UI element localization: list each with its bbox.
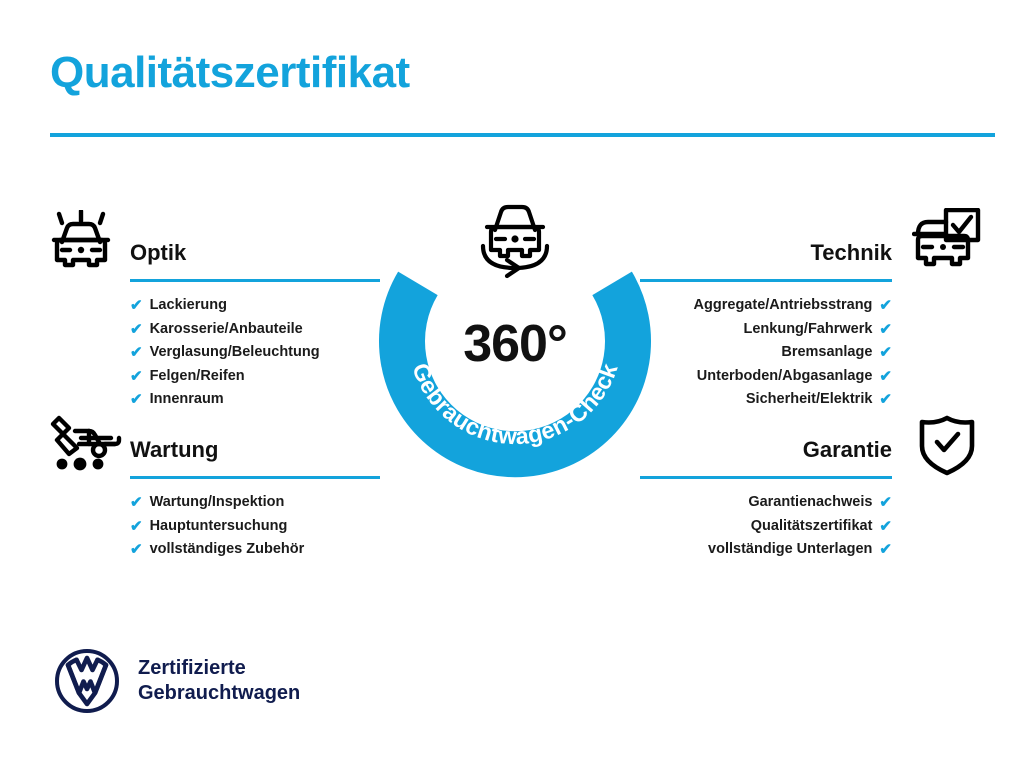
section-garantie: Garantie Garantienachweis✔ Qualitätszert…	[640, 435, 892, 562]
section-technik-title: Technik	[640, 238, 892, 268]
list-item: Bremsanlage✔	[640, 341, 892, 365]
car-rotate-360-icon	[483, 207, 547, 276]
shield-check-icon	[918, 414, 976, 481]
section-garantie-list: Garantienachweis✔ Qualitätszertifikat✔ v…	[640, 491, 892, 562]
section-optik-title: Optik	[130, 238, 380, 268]
vw-wordmark: Zertifizierte Gebrauchtwagen	[138, 656, 300, 706]
section-technik: Technik Aggregate/Antriebsstrang✔ Lenkun…	[640, 238, 892, 412]
pencil-car-service-icon	[45, 414, 123, 479]
check-icon: ✔	[879, 491, 892, 515]
section-optik: Optik ✔Lackierung ✔Karosserie/Anbauteile…	[130, 238, 380, 412]
list-item-label: Bremsanlage	[781, 341, 872, 365]
list-item: ✔Karosserie/Anbauteile	[130, 318, 380, 342]
check-icon: ✔	[879, 341, 892, 365]
list-item-label: Innenraum	[150, 388, 224, 412]
list-item-label: Qualitätszertifikat	[751, 515, 873, 539]
list-item-label: Felgen/Reifen	[150, 365, 245, 389]
section-garantie-header: Garantie	[640, 435, 892, 479]
title-divider	[50, 133, 995, 137]
list-item: Unterboden/Abgasanlage✔	[640, 365, 892, 389]
check-icon: ✔	[879, 538, 892, 562]
quality-certificate-page: Qualitätszertifikat	[0, 0, 1024, 768]
vw-certified-logo: Zertifizierte Gebrauchtwagen	[54, 648, 300, 714]
list-item-label: Lackierung	[150, 294, 227, 318]
check-icon: ✔	[130, 538, 143, 562]
section-wartung-title: Wartung	[130, 435, 380, 465]
check-icon: ✔	[130, 365, 143, 389]
section-wartung-list: ✔Wartung/Inspektion ✔Hauptuntersuchung ✔…	[130, 491, 380, 562]
list-item-label: Unterboden/Abgasanlage	[697, 365, 873, 389]
list-item-label: vollständige Unterlagen	[708, 538, 872, 562]
check-icon: ✔	[879, 515, 892, 539]
check-icon: ✔	[879, 294, 892, 318]
section-technik-header: Technik	[640, 238, 892, 282]
car-checkbox-icon	[912, 208, 982, 279]
check-icon: ✔	[879, 318, 892, 342]
page-title: Qualitätszertifikat	[50, 48, 410, 98]
section-garantie-title: Garantie	[640, 435, 892, 465]
list-item: Garantienachweis✔	[640, 491, 892, 515]
list-item-label: Aggregate/Antriebsstrang	[694, 294, 873, 318]
list-item-label: Hauptuntersuchung	[150, 515, 288, 539]
section-optik-divider	[130, 279, 380, 282]
list-item: ✔Verglasung/Beleuchtung	[130, 341, 380, 365]
check-icon: ✔	[130, 491, 143, 515]
section-optik-header: Optik	[130, 238, 380, 282]
section-wartung-divider	[130, 476, 380, 479]
list-item: ✔Wartung/Inspektion	[130, 491, 380, 515]
vw-wordmark-line1: Zertifizierte	[138, 656, 300, 681]
check-icon: ✔	[130, 388, 143, 412]
vw-roundel-icon	[54, 648, 120, 714]
check-icon: ✔	[879, 365, 892, 389]
section-wartung: Wartung ✔Wartung/Inspektion ✔Hauptunters…	[130, 435, 380, 562]
list-item: ✔Felgen/Reifen	[130, 365, 380, 389]
list-item-label: Verglasung/Beleuchtung	[150, 341, 320, 365]
list-item: Aggregate/Antriebsstrang✔	[640, 294, 892, 318]
list-item-label: Wartung/Inspektion	[150, 491, 285, 515]
list-item: vollständige Unterlagen✔	[640, 538, 892, 562]
section-garantie-divider	[640, 476, 892, 479]
check-icon: ✔	[130, 318, 143, 342]
check-icon: ✔	[130, 515, 143, 539]
list-item: ✔Innenraum	[130, 388, 380, 412]
badge-360-check: Gebrauchtwagen-Check 360°	[370, 192, 660, 482]
section-wartung-header: Wartung	[130, 435, 380, 479]
list-item-label: Sicherheit/Elektrik	[746, 388, 873, 412]
check-icon: ✔	[130, 341, 143, 365]
vw-wordmark-line2: Gebrauchtwagen	[138, 681, 300, 706]
list-item-label: Garantienachweis	[748, 491, 872, 515]
list-item: Sicherheit/Elektrik✔	[640, 388, 892, 412]
check-icon: ✔	[879, 388, 892, 412]
section-optik-list: ✔Lackierung ✔Karosserie/Anbauteile ✔Verg…	[130, 294, 380, 412]
list-item-label: vollständiges Zubehör	[150, 538, 305, 562]
section-technik-divider	[640, 279, 892, 282]
list-item: ✔Lackierung	[130, 294, 380, 318]
list-item: Lenkung/Fahrwerk✔	[640, 318, 892, 342]
list-item: ✔vollständiges Zubehör	[130, 538, 380, 562]
list-item: Qualitätszertifikat✔	[640, 515, 892, 539]
check-icon: ✔	[130, 294, 143, 318]
car-shine-icon	[45, 210, 117, 277]
list-item-label: Karosserie/Anbauteile	[150, 318, 303, 342]
list-item: ✔Hauptuntersuchung	[130, 515, 380, 539]
list-item-label: Lenkung/Fahrwerk	[744, 318, 873, 342]
section-technik-list: Aggregate/Antriebsstrang✔ Lenkung/Fahrwe…	[640, 294, 892, 412]
